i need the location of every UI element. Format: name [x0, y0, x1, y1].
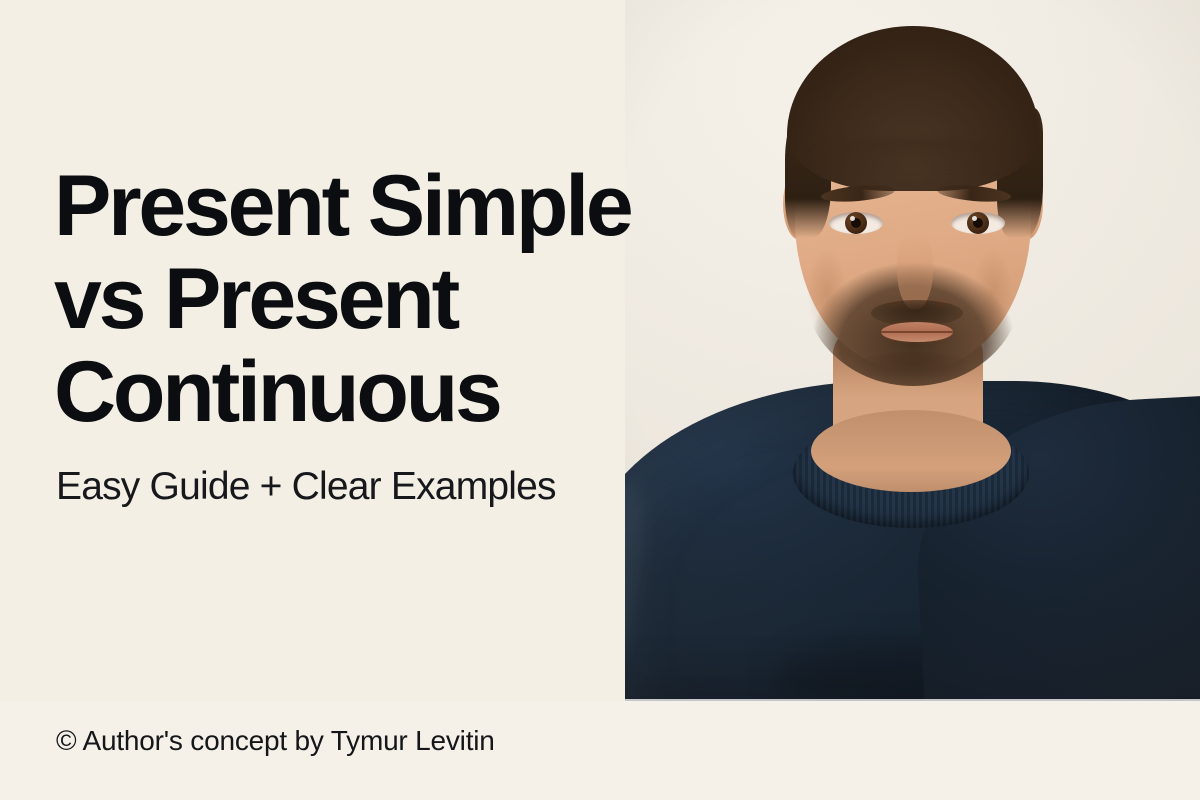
eye-glint — [972, 216, 977, 221]
chin-shadow — [853, 352, 973, 382]
eye-left — [829, 212, 883, 234]
mouth-line — [881, 331, 953, 333]
eye-glint — [850, 216, 855, 221]
page-title-line-3: Continuous — [54, 346, 614, 439]
eye-right — [951, 212, 1005, 234]
page-title-line-2: vs Present — [54, 253, 614, 346]
page-subtitle: Easy Guide + Clear Examples — [56, 462, 556, 512]
title-card: Present Simple vs Present Continuous Eas… — [0, 0, 1200, 800]
collar-opening — [811, 410, 1011, 492]
portrait-photo — [625, 0, 1200, 701]
credit-line: © Author's concept by Tymur Levitin — [56, 723, 495, 759]
iris — [845, 212, 867, 234]
iris — [967, 212, 989, 234]
footer-divider — [625, 699, 1200, 701]
hairline-shadow — [811, 138, 1017, 172]
page-title-line-1: Present Simple — [54, 160, 614, 253]
nose — [897, 232, 933, 310]
page-title: Present Simple vs Present Continuous — [54, 160, 614, 439]
sweater-fold — [625, 479, 654, 684]
